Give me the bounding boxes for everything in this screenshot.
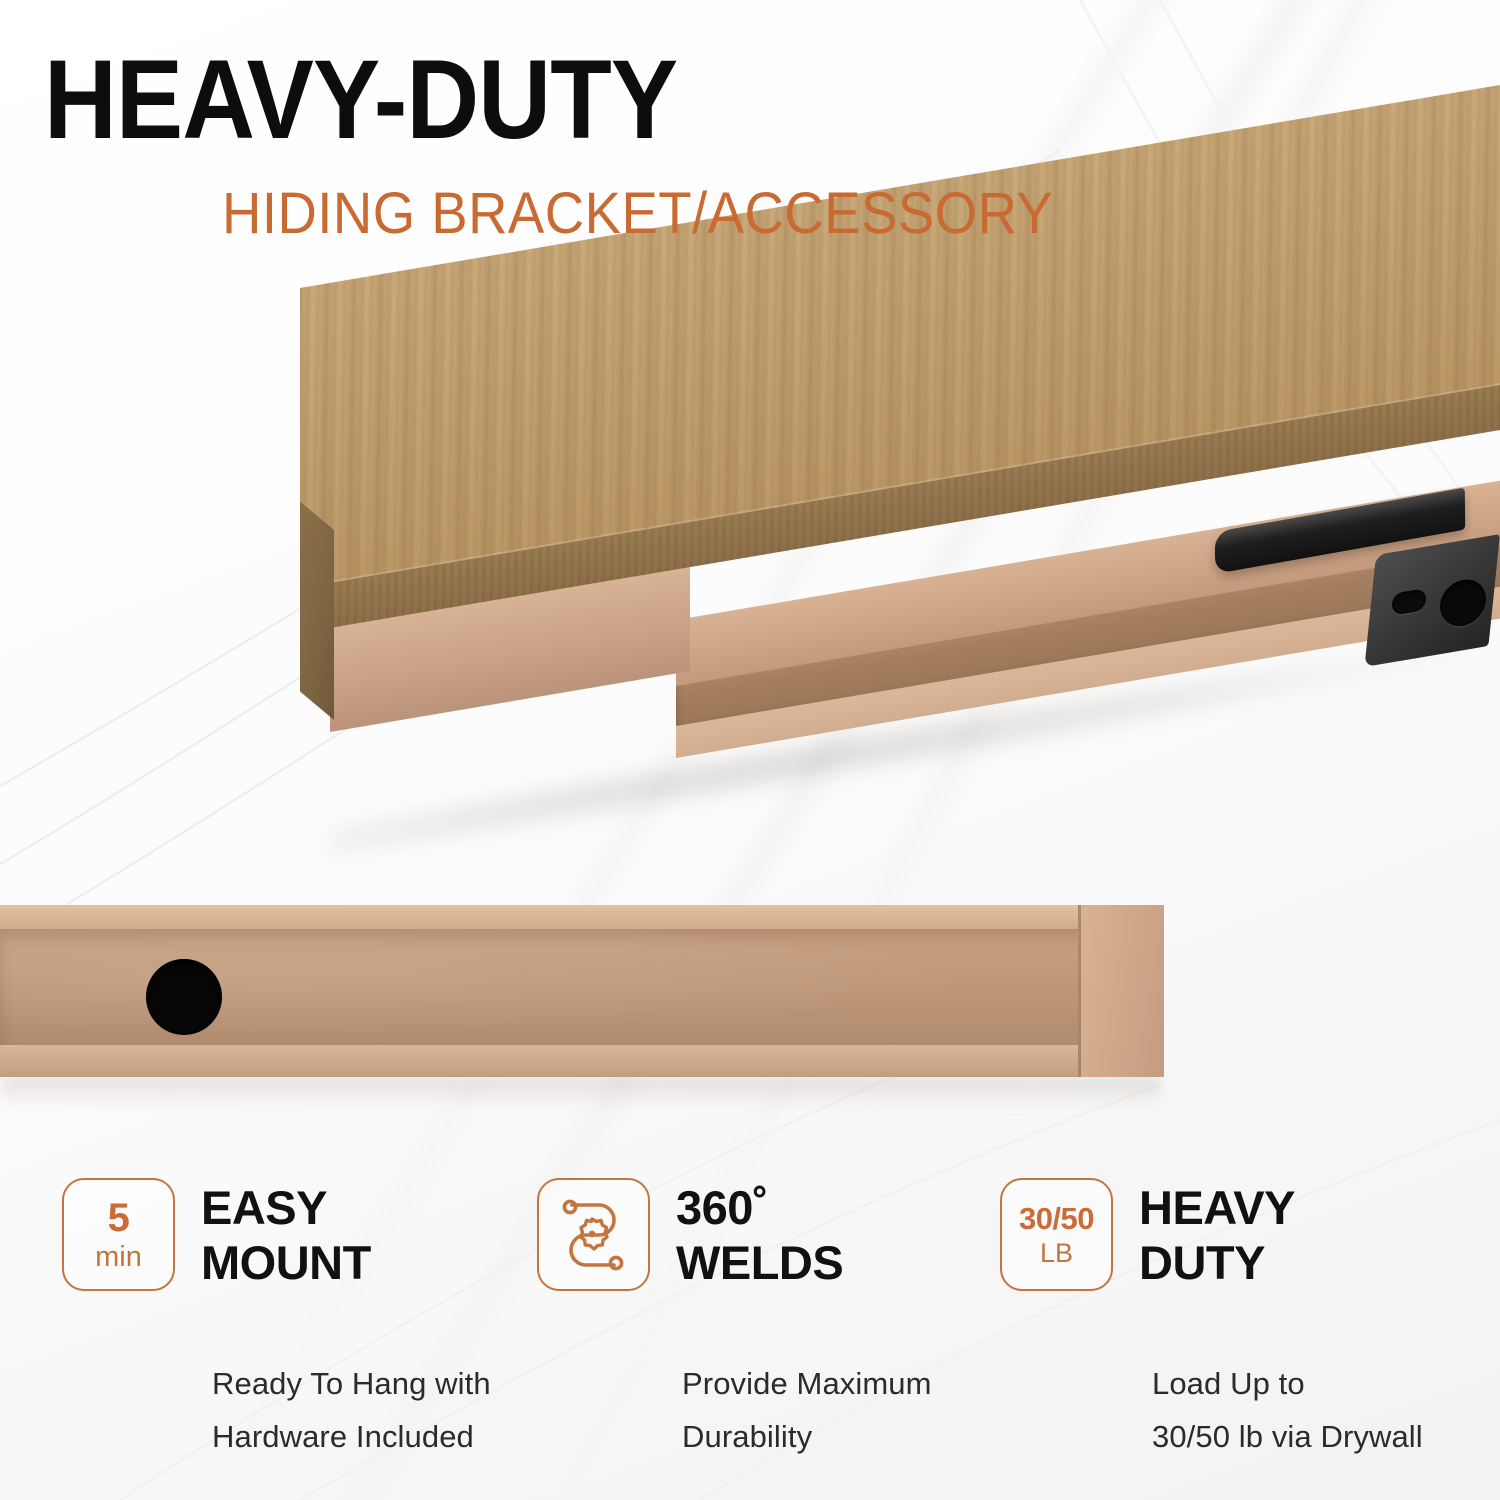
channel-mounting-hole-icon [146, 959, 222, 1035]
feature-desc-line1: Load Up to [1152, 1357, 1465, 1410]
feature-header: 30/50 LB HEAVY DUTY [1000, 1178, 1465, 1291]
channel-bottom-wall [0, 1045, 1145, 1077]
page-title: HEAVY-DUTY [44, 44, 677, 156]
feature-description: Provide Maximum Durability [682, 1357, 965, 1463]
channel-top-wall [0, 905, 1145, 929]
feature-title: EASY MOUNT [201, 1178, 371, 1290]
badge-unit: LB [1040, 1240, 1073, 1267]
feature-header: 360˚ WELDS [537, 1178, 965, 1291]
detail-product-image [0, 905, 1165, 1080]
feature-row: 5 min EASY MOUNT Ready To Hang with Hard… [0, 1178, 1500, 1478]
feature-title-line1: EASY [201, 1180, 371, 1235]
feature-desc-line2: Durability [682, 1410, 965, 1463]
feature-desc-line2: 30/50 lb via Drywall [1152, 1410, 1465, 1463]
channel-end-cap [1078, 905, 1164, 1077]
feature-desc-line1: Provide Maximum [682, 1357, 965, 1410]
feature-description: Load Up to 30/50 lb via Drywall [1152, 1357, 1465, 1463]
feature-title: 360˚ WELDS [676, 1178, 843, 1290]
feature-header: 5 min EASY MOUNT [62, 1178, 520, 1291]
hero-product-image [0, 250, 1500, 870]
feature-360-welds: 360˚ WELDS Provide Maximum Durability [520, 1178, 965, 1478]
feature-desc-line2: Hardware Included [212, 1410, 520, 1463]
feature-description: Ready To Hang with Hardware Included [212, 1357, 520, 1463]
weld-path-gear-icon [557, 1198, 631, 1272]
badge-value: 30/50 [1019, 1203, 1094, 1234]
feature-easy-mount: 5 min EASY MOUNT Ready To Hang with Hard… [0, 1178, 520, 1478]
feature-title-line2: WELDS [676, 1235, 843, 1290]
feature-title-line1: HEAVY [1139, 1180, 1295, 1235]
feature-title-line2: DUTY [1139, 1235, 1295, 1290]
shelf-left-end-cap [300, 501, 334, 720]
feature-title: HEAVY DUTY [1139, 1178, 1295, 1290]
page-subtitle: HIDING BRACKET/ACCESSORY [222, 183, 1053, 245]
badge-value: 5 [108, 1198, 130, 1238]
badge-weld-path [537, 1178, 650, 1291]
badge-unit: min [95, 1243, 142, 1272]
feature-desc-line1: Ready To Hang with [212, 1357, 520, 1410]
feature-heavy-duty: 30/50 LB HEAVY DUTY Load Up to 30/50 lb … [965, 1178, 1465, 1478]
channel-drop-shadow [0, 1075, 1160, 1109]
feature-title-line1: 360˚ [676, 1180, 843, 1235]
feature-title-line2: MOUNT [201, 1235, 371, 1290]
badge-5-min: 5 min [62, 1178, 175, 1291]
badge-30-50-lb: 30/50 LB [1000, 1178, 1113, 1291]
